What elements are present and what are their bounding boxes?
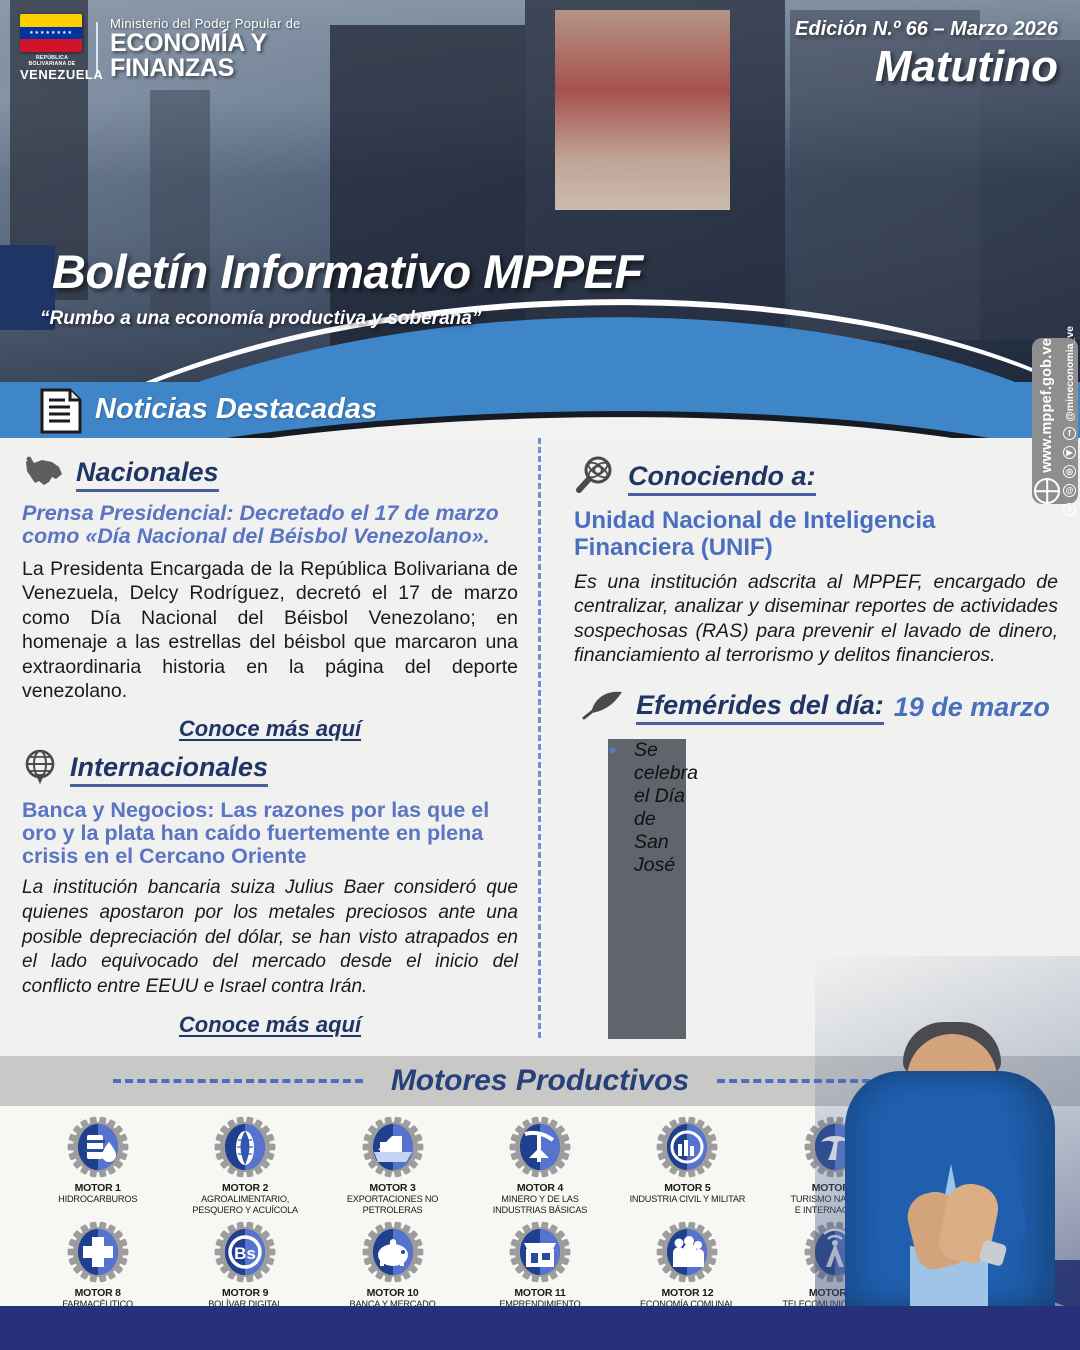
efemerides-item-text: Se celebra el Día de San José bbox=[634, 739, 698, 876]
edition-label: Edición N.º 66 – Marzo 2026 bbox=[795, 18, 1058, 41]
ministry-logo: ★★★★★★★★ REPÚBLICA BOLIVARIANA DE VENEZU… bbox=[20, 14, 301, 82]
internacionales-cta-link[interactable]: Conoce más aquí bbox=[22, 1012, 518, 1038]
motores-title: Motores Productivos bbox=[391, 1064, 689, 1098]
feather-quill-icon bbox=[582, 688, 626, 727]
section-efemerides-title: Efemérides del día: bbox=[636, 690, 884, 725]
motor-item[interactable]: MOTOR 2 AGROALIMENTARIO,PESQUERO Y ACUÍC… bbox=[171, 1116, 318, 1215]
ministry-line-3: FINANZAS bbox=[110, 56, 301, 81]
globe-icon bbox=[1034, 478, 1060, 504]
section-conociendo-title: Conociendo a: bbox=[628, 461, 816, 496]
conociendo-description: Es una institución adscrita al MPPEF, en… bbox=[574, 570, 1058, 668]
page-slogan: “Rumbo a una economía productiva y sober… bbox=[40, 308, 481, 330]
motor-name: MOTOR 4 bbox=[466, 1182, 613, 1194]
internacionales-article-title: Banca y Negocios: Las razones por las qu… bbox=[22, 799, 518, 867]
noticias-label: Noticias Destacadas bbox=[95, 393, 377, 426]
page-title: Boletín Informativo MPPEF bbox=[52, 244, 643, 299]
medical-cross-icon bbox=[67, 1221, 129, 1283]
section-efemerides-header: Efemérides del día: 19 de marzo bbox=[574, 688, 1058, 727]
social-sidebar: @mineconomia_ve f ▶ ◎ @ ✈ www.mppef.gob.… bbox=[1032, 338, 1078, 504]
document-lines-icon bbox=[40, 388, 82, 439]
motor-item[interactable]: MOTOR 5 INDUSTRIA CIVIL Y MILITAR bbox=[614, 1116, 761, 1215]
dash-line-left bbox=[113, 1079, 363, 1083]
piggy-bank-icon bbox=[362, 1221, 424, 1283]
website-url[interactable]: www.mppef.gob.ve bbox=[1039, 338, 1055, 473]
factory-gear-icon bbox=[656, 1116, 718, 1178]
footer-bar bbox=[0, 1306, 1080, 1350]
motor-desc: HIDROCARBUROS bbox=[24, 1194, 171, 1205]
people-group-icon bbox=[656, 1221, 718, 1283]
social-handle: @mineconomia_ve bbox=[1064, 326, 1076, 421]
section-internacionales-title: Internacionales bbox=[70, 752, 268, 787]
shift-label: Matutino bbox=[875, 42, 1058, 92]
youtube-icon[interactable]: ▶ bbox=[1063, 446, 1076, 459]
president-photo bbox=[815, 956, 1080, 1306]
storefront-icon bbox=[509, 1221, 571, 1283]
motor-desc: EXPORTACIONES NOPETROLERAS bbox=[319, 1194, 466, 1215]
conociendo-entity: Unidad Nacional de Inteligencia Financie… bbox=[574, 508, 1058, 562]
bolivar-coin-icon: Bs bbox=[214, 1221, 276, 1283]
motor-name: MOTOR 1 bbox=[24, 1182, 171, 1194]
instagram-icon[interactable]: ◎ bbox=[1063, 465, 1076, 478]
telegram-icon[interactable]: ✈ bbox=[1063, 503, 1076, 516]
motor-name: MOTOR 12 bbox=[614, 1287, 761, 1299]
billboard bbox=[555, 10, 730, 210]
motor-desc: INDUSTRIA CIVIL Y MILITAR bbox=[614, 1194, 761, 1205]
motor-name: MOTOR 11 bbox=[466, 1287, 613, 1299]
motor-name: MOTOR 9 bbox=[171, 1287, 318, 1299]
venezuela-flag-icon: ★★★★★★★★ REPÚBLICA BOLIVARIANA DE VENEZU… bbox=[20, 14, 84, 82]
globe-pin-icon bbox=[22, 748, 60, 791]
corn-icon bbox=[214, 1116, 276, 1178]
ministry-line-2: ECONOMÍA Y bbox=[110, 31, 301, 56]
section-nacionales-title: Nacionales bbox=[76, 457, 219, 492]
social-icons-column: @mineconomia_ve f ▶ ◎ @ ✈ bbox=[1063, 326, 1076, 516]
section-conociendo-header: Conociendo a: bbox=[574, 455, 1058, 502]
threads-icon[interactable]: @ bbox=[1063, 484, 1076, 497]
left-column: Nacionales Prensa Presidencial: Decretad… bbox=[0, 445, 538, 1044]
motor-desc: AGROALIMENTARIO,PESQUERO Y ACUÍCOLA bbox=[171, 1194, 318, 1215]
column-divider bbox=[538, 438, 541, 1038]
section-nacionales-header: Nacionales bbox=[22, 455, 518, 494]
facebook-icon[interactable]: f bbox=[1063, 427, 1076, 440]
nacionales-article-body: La Presidenta Encargada de la República … bbox=[22, 557, 518, 704]
motor-desc: MINERO Y DE LASINDUSTRIAS BÁSICAS bbox=[466, 1194, 613, 1215]
svg-text:Bs: Bs bbox=[234, 1244, 256, 1263]
motor-name: MOTOR 2 bbox=[171, 1182, 318, 1194]
motor-item[interactable]: MOTOR 1 HIDROCARBUROS bbox=[24, 1116, 171, 1215]
section-internacionales-header: Internacionales bbox=[22, 748, 518, 791]
magnifier-atom-icon bbox=[574, 455, 618, 502]
flag-republic-text: REPÚBLICA BOLIVARIANA DE bbox=[20, 55, 84, 67]
oil-barrel-drop-icon bbox=[67, 1116, 129, 1178]
motor-name: MOTOR 5 bbox=[614, 1182, 761, 1194]
motor-item[interactable]: MOTOR 3 EXPORTACIONES NOPETROLERAS bbox=[319, 1116, 466, 1215]
venezuela-map-icon bbox=[22, 455, 66, 494]
efemerides-date: 19 de marzo bbox=[894, 692, 1050, 723]
list-item: Se celebra el Día de San José bbox=[608, 739, 686, 1039]
motor-name: MOTOR 8 bbox=[24, 1287, 171, 1299]
pickaxe-icon bbox=[509, 1116, 571, 1178]
nacionales-article-title: Prensa Presidencial: Decretado el 17 de … bbox=[22, 502, 518, 548]
flag-country-text: VENEZUELA bbox=[20, 67, 84, 82]
motor-name: MOTOR 10 bbox=[319, 1287, 466, 1299]
nacionales-cta-link[interactable]: Conoce más aquí bbox=[22, 716, 518, 742]
motor-name: MOTOR 3 bbox=[319, 1182, 466, 1194]
cargo-ship-icon bbox=[362, 1116, 424, 1178]
internacionales-article-body: La institución bancaria suiza Julius Bae… bbox=[22, 876, 518, 999]
logo-divider bbox=[96, 22, 98, 74]
boletin-page: ★★★★★★★★ REPÚBLICA BOLIVARIANA DE VENEZU… bbox=[0, 0, 1080, 1350]
motor-item[interactable]: MOTOR 4 MINERO Y DE LASINDUSTRIAS BÁSICA… bbox=[466, 1116, 613, 1215]
website-column: www.mppef.gob.ve bbox=[1034, 338, 1060, 505]
